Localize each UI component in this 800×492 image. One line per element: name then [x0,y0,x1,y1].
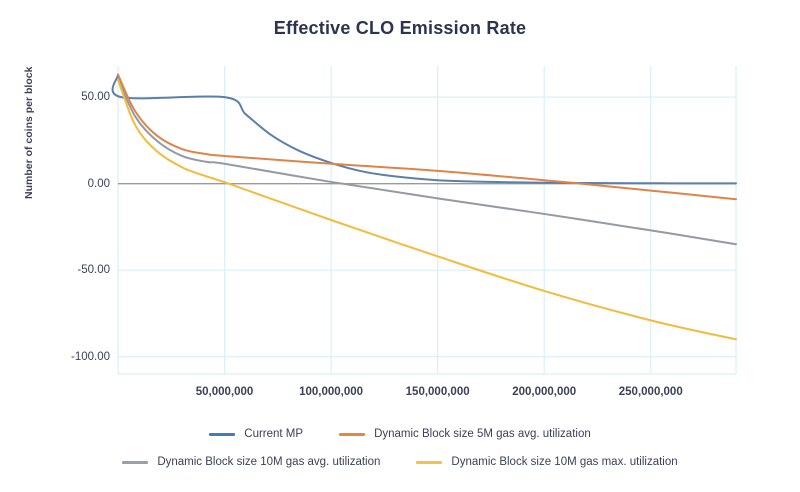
legend-swatch-icon [416,461,442,464]
legend-swatch-icon [122,461,148,464]
series-lines [113,75,736,340]
y-tick-label: -100.00 [40,351,110,363]
chart-legend: Current MP Dynamic Block size 5M gas avg… [0,420,800,476]
x-tick-label: 100,000,000 [271,386,391,398]
legend-label: Current MP [244,428,303,440]
legend-label: Dynamic Block size 10M gas avg. utilizat… [157,456,380,468]
y-tick-label: 0.00 [40,178,110,190]
legend-item-dynamic-5m-avg[interactable]: Dynamic Block size 5M gas avg. utilizati… [339,428,591,440]
series-line [113,75,736,184]
gridlines [118,66,736,374]
legend-item-current-mp[interactable]: Current MP [209,428,303,440]
legend-label: Dynamic Block size 5M gas avg. utilizati… [374,428,591,440]
legend-row-1: Current MP Dynamic Block size 5M gas avg… [0,420,800,448]
y-tick-label: 50.00 [40,91,110,103]
x-tick-label: 250,000,000 [591,386,711,398]
series-line [118,80,736,340]
series-line [118,78,736,244]
legend-item-dynamic-10m-avg[interactable]: Dynamic Block size 10M gas avg. utilizat… [122,456,380,468]
legend-row-2: Dynamic Block size 10M gas avg. utilizat… [0,448,800,476]
legend-label: Dynamic Block size 10M gas max. utilizat… [451,456,677,468]
x-tick-label: 150,000,000 [378,386,498,398]
x-tick-label: 200,000,000 [484,386,604,398]
plot-area [0,0,800,492]
series-line [118,75,736,200]
legend-item-dynamic-10m-max[interactable]: Dynamic Block size 10M gas max. utilizat… [416,456,677,468]
chart-container: Effective CLO Emission Rate Number of co… [0,0,800,492]
y-tick-label: -50.00 [40,264,110,276]
legend-swatch-icon [209,433,235,436]
legend-swatch-icon [339,433,365,436]
x-tick-label: 50,000,000 [165,386,285,398]
y-axis-ticks: 50.000.00-50.00-100.00 [38,0,110,492]
